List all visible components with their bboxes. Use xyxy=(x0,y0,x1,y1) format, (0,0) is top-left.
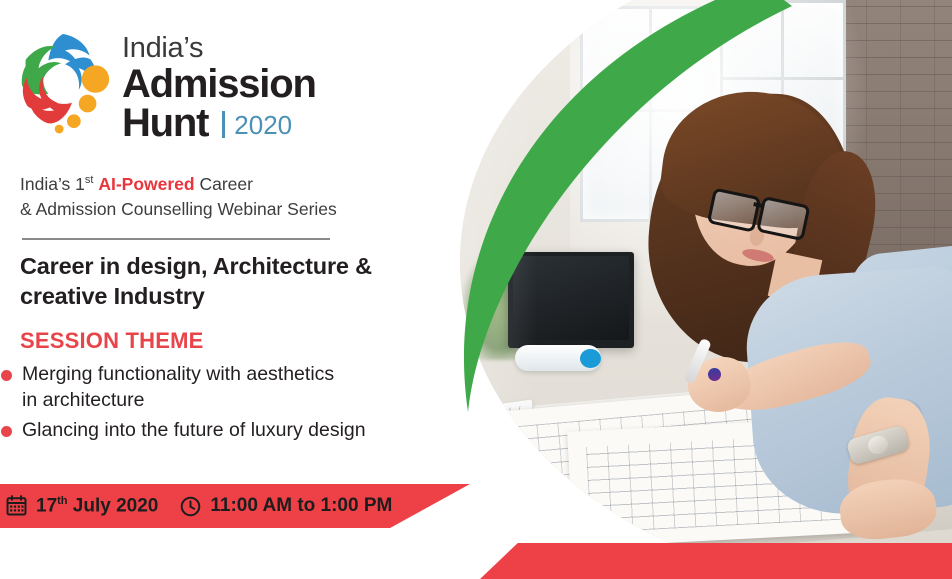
event-date: 17th July 2020 xyxy=(6,495,158,517)
event-time-text: 11:00 AM to 1:00 PM xyxy=(210,495,392,517)
event-date-rest: July 2020 xyxy=(68,495,159,516)
schedule-bar: 17th July 2020 11:00 AM to 1:00 PM xyxy=(0,484,470,528)
brand-wordmark: India’s Admission Hunt 2020 xyxy=(122,30,316,144)
bullet-1-line-2: in architecture xyxy=(22,389,144,411)
event-date-text: 17th July 2020 xyxy=(36,495,158,517)
tagline-line2: & Admission Counselling Webinar Series xyxy=(20,199,337,219)
brand-year: 2020 xyxy=(222,110,292,141)
brand-year-text: 2020 xyxy=(234,110,292,140)
event-date-day: 17 xyxy=(36,495,57,516)
bullet-2-line-1: Glancing into the future of luxury desig… xyxy=(22,419,366,441)
tagline-ordinal: st xyxy=(85,174,94,186)
list-item: Glancing into the future of luxury desig… xyxy=(0,418,460,444)
list-item: Merging functionality with aesthetics in… xyxy=(0,362,460,413)
tagline-prefix: India’s 1 xyxy=(20,174,85,194)
page-title: Career in design, Architecture & creativ… xyxy=(20,252,440,311)
webinar-promo-banner: India’s Admission Hunt 2020 India’s 1st … xyxy=(0,0,952,579)
event-date-ordinal: th xyxy=(57,495,67,507)
brand-line-admission: Admission xyxy=(122,64,316,105)
tagline-suffix: Career xyxy=(195,174,253,194)
calendar-icon xyxy=(6,495,27,516)
bottom-red-accent-strip xyxy=(480,543,952,579)
section-divider xyxy=(22,238,330,240)
green-arc-decoration xyxy=(420,0,952,572)
clock-icon xyxy=(180,496,201,517)
bullet-1-line-1: Merging functionality with aesthetics xyxy=(22,363,334,385)
headline-line-2: creative Industry xyxy=(20,283,205,309)
tagline: India’s 1st AI-Powered Career & Admissio… xyxy=(20,172,440,223)
brand-line-hunt: Hunt xyxy=(122,103,208,144)
brand-year-divider xyxy=(222,111,225,138)
pinwheel-swirl-logo-icon xyxy=(18,30,116,135)
brand-logo[interactable]: India’s Admission Hunt 2020 xyxy=(18,30,316,144)
bullet-dot-icon xyxy=(1,370,12,381)
brand-line-indias: India’s xyxy=(122,34,316,63)
session-theme-heading: SESSION THEME xyxy=(20,328,204,354)
headline-line-1: Career in design, Architecture & xyxy=(20,253,372,279)
bullet-dot-icon xyxy=(1,426,12,437)
session-theme-list: Merging functionality with aesthetics in… xyxy=(0,362,460,449)
event-time: 11:00 AM to 1:00 PM xyxy=(180,495,392,517)
tagline-highlight: AI-Powered xyxy=(98,174,194,194)
photo-artwork-region xyxy=(420,0,952,579)
